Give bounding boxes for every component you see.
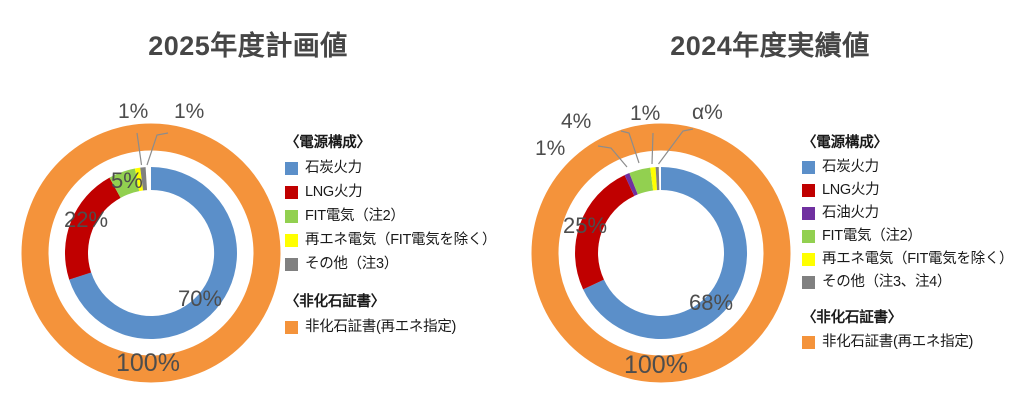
label-coal-68pct: 68% [689,292,733,314]
legend-label-oil: 石油火力 [822,206,879,221]
label-certificate-100pct: 100% [116,351,180,376]
swatch-coal-icon [285,162,298,175]
legend-heading-certificate: 〈非化石証書〉 [285,290,520,311]
swatch-renewable-icon [285,234,298,247]
legend-heading-certificate: 〈非化石証書〉 [802,306,1024,327]
label-certificate-100pct: 100% [624,353,688,378]
swatch-other-icon [802,276,815,289]
legend-label-lng: LNG火力 [305,185,362,200]
legend-label-fit: FIT電気（注2） [305,209,405,224]
legend-label-other: その他（注3） [305,257,398,272]
label-fit-4pct: 4% [561,111,591,132]
legend-item-oil[interactable]: 石油火力 [802,202,1024,225]
swatch-lng-icon [285,186,298,199]
label-other-1pct: 1% [174,101,204,122]
chart-board: 2025年度計画値 [0,0,1024,411]
swatch-renewable-icon [802,253,815,266]
legend-item-coal[interactable]: 石炭火力 [285,156,520,180]
legend-label-coal: 石炭火力 [305,161,362,176]
swatch-oil-icon [802,207,815,220]
label-lng-25pct: 25% [563,215,607,237]
legend-item-lng[interactable]: LNG火力 [285,180,520,204]
legend-label-certificate: 非化石証書(再エネ指定) [822,335,973,350]
legend-label-lng: LNG火力 [822,183,879,198]
legend-label-renewable: 再エネ電気（FIT電気を除く） [822,252,1013,267]
swatch-other-icon [285,258,298,271]
legend-label-coal: 石炭火力 [822,160,879,175]
panel-plan-2025: 2025年度計画値 [0,0,512,411]
legend-item-other[interactable]: その他（注3） [285,252,520,276]
label-lng-22pct: 22% [64,209,108,231]
legend-label-certificate: 非化石証書(再エネ指定) [305,320,456,335]
panel-actual-2024: 2024年度実績値 [512,0,1024,411]
label-coal-70pct: 70% [178,288,222,310]
swatch-fit-icon [285,210,298,223]
legend-item-other[interactable]: その他（注3、注4） [802,271,1024,294]
swatch-lng-icon [802,184,815,197]
legend-item-certificate[interactable]: 非化石証書(再エネ指定) [802,331,1024,354]
page-title-left: 2025年度計画値 [18,24,478,63]
legend-item-lng[interactable]: LNG火力 [802,179,1024,202]
label-other-alpha-pct: α% [692,102,723,123]
legend-label-renewable: 再エネ電気（FIT電気を除く） [305,233,496,248]
label-renewable-1pct: 1% [118,101,148,122]
label-oil-1pct: 1% [535,138,565,159]
label-renewable-1pct: 1% [630,103,660,124]
legend-left: 〈電源構成〉 石炭火力 LNG火力 FIT電気（注2） 再エネ電気（FIT電気を… [285,131,520,339]
legend-heading-power-mix: 〈電源構成〉 [285,131,520,152]
legend-item-renewable[interactable]: 再エネ電気（FIT電気を除く） [802,248,1024,271]
legend-item-coal[interactable]: 石炭火力 [802,156,1024,179]
legend-right: 〈電源構成〉 石炭火力 LNG火力 石油火力 FIT電気（注2） 再エネ電気（F… [802,131,1024,354]
legend-item-renewable[interactable]: 再エネ電気（FIT電気を除く） [285,228,520,252]
donut-chart-right: 1% 4% 1% α% 25% 68% 100% [536,108,786,398]
legend-heading-power-mix: 〈電源構成〉 [802,131,1024,152]
label-fit-5pct: 5% [111,170,143,192]
swatch-coal-icon [802,161,815,174]
legend-label-other: その他（注3、注4） [822,275,951,290]
legend-item-certificate[interactable]: 非化石証書(再エネ指定) [285,315,520,339]
page-title-right: 2024年度実績値 [540,24,1000,63]
swatch-certificate-icon [285,321,298,334]
swatch-fit-icon [802,230,815,243]
legend-item-fit[interactable]: FIT電気（注2） [802,225,1024,248]
legend-label-fit: FIT電気（注2） [822,229,922,244]
donut-chart-left: 1% 1% 5% 22% 70% 100% [26,108,276,398]
legend-item-fit[interactable]: FIT電気（注2） [285,204,520,228]
swatch-certificate-icon [802,336,815,349]
